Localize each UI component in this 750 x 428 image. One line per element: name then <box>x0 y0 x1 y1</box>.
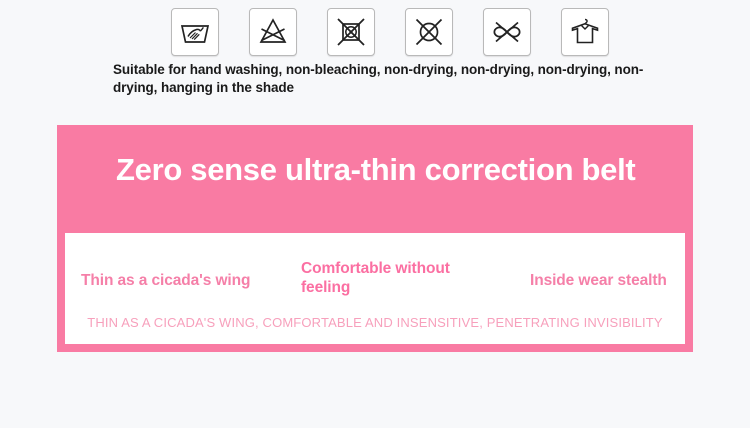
feature-thin-as-cicada-wing: Thin as a cicada's wing <box>81 271 291 290</box>
no-wring-icon <box>483 8 531 56</box>
promo-headline: Zero sense ultra-thin correction belt <box>116 152 635 188</box>
no-tumble-dry-icon <box>327 8 375 56</box>
promo-banner: Zero sense ultra-thin correction belt Th… <box>57 125 693 352</box>
feature-inside-wear-stealth: Inside wear stealth <box>530 271 710 290</box>
promo-feature-row: Thin as a cicada's wing Comfortable with… <box>65 233 685 305</box>
care-instructions-caption: Suitable for hand washing, non-bleaching… <box>113 61 679 97</box>
hand-wash-icon <box>171 8 219 56</box>
promo-feature-card: Thin as a cicada's wing Comfortable with… <box>65 233 685 344</box>
no-bleach-icon <box>249 8 297 56</box>
hang-to-dry-shirt-icon <box>561 8 609 56</box>
no-dry-clean-icon <box>405 8 453 56</box>
care-symbol-row <box>171 8 609 56</box>
promo-subcaption: THIN AS A CICADA'S WING, COMFORTABLE AND… <box>65 315 685 330</box>
feature-comfortable-without-feeling: Comfortable without feeling <box>301 259 501 298</box>
